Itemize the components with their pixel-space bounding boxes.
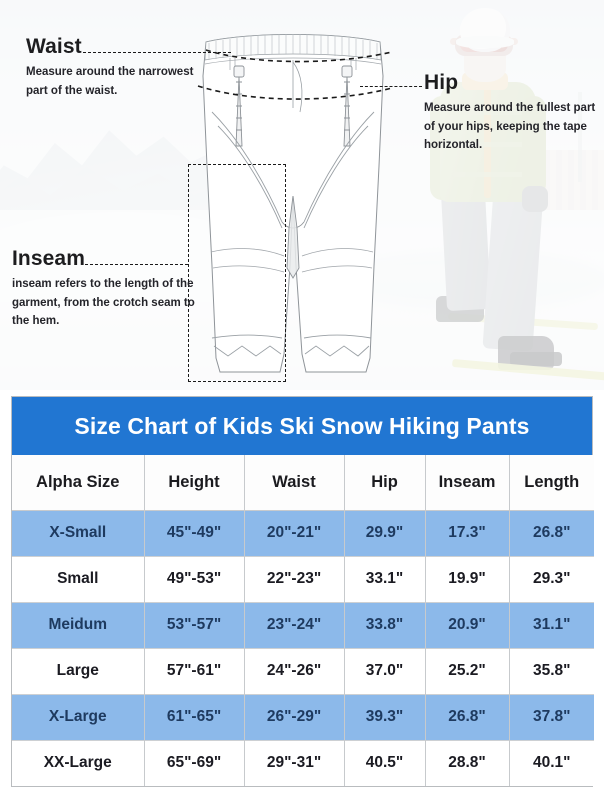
col-header-waist: Waist [244,455,344,510]
size-chart-table: Alpha Size Height Waist Hip Inseam Lengt… [12,455,594,786]
table-row: X-Small 45"-49" 20"-21" 29.9" 17.3" 26.8… [12,510,594,556]
callout-hip-title: Hip [424,72,600,94]
cell-height: 53"-57" [144,602,244,648]
size-chart-table-wrapper: Size Chart of Kids Ski Snow Hiking Pants… [11,396,593,787]
cell-waist: 24"-26" [244,648,344,694]
cell-length: 37.8" [509,694,594,740]
cell-length: 35.8" [509,648,594,694]
cell-height: 57"-61" [144,648,244,694]
cell-waist: 29"-31" [244,740,344,786]
cell-inseam: 20.9" [425,602,509,648]
cell-length: 29.3" [509,556,594,602]
cell-height: 49"-53" [144,556,244,602]
cell-inseam: 17.3" [425,510,509,556]
cell-waist: 20"-21" [244,510,344,556]
cell-height: 65"-69" [144,740,244,786]
cell-hip: 33.1" [344,556,425,602]
col-header-height: Height [144,455,244,510]
cell-hip: 40.5" [344,740,425,786]
cell-hip: 29.9" [344,510,425,556]
table-row: Large 57"-61" 24"-26" 37.0" 25.2" 35.8" [12,648,594,694]
cell-height: 45"-49" [144,510,244,556]
callout-inseam-title: Inseam [12,248,212,270]
cell-size: XX-Large [12,740,144,786]
cell-hip: 39.3" [344,694,425,740]
col-header-length: Length [509,455,594,510]
col-header-alpha-size: Alpha Size [12,455,144,510]
skier-pant-right [482,188,543,351]
cell-inseam: 25.2" [425,648,509,694]
cell-hip: 37.0" [344,648,425,694]
child-skier-figure [392,0,604,390]
cell-inseam: 28.8" [425,740,509,786]
callout-waist-title: Waist [26,36,216,58]
table-head: Alpha Size Height Waist Hip Inseam Lengt… [12,455,594,510]
cell-inseam: 26.8" [425,694,509,740]
jacket-fold-3 [452,172,524,177]
cell-inseam: 19.9" [425,556,509,602]
cell-size: Large [12,648,144,694]
callout-inseam-body: inseam refers to the length of the garme… [12,275,212,331]
hip-leader-line [360,86,422,87]
size-chart-title: Size Chart of Kids Ski Snow Hiking Pants [12,397,592,455]
callout-waist-body: Measure around the narrowest part of the… [26,63,216,100]
cell-size: Small [12,556,144,602]
table-row: X-Large 61"-65" 26"-29" 39.3" 26.8" 37.8… [12,694,594,740]
cell-size: Meidum [12,602,144,648]
skier-glove [522,186,548,212]
hero-photo-panel: Waist Measure around the narrowest part … [0,0,604,390]
callout-waist: Waist Measure around the narrowest part … [26,36,216,100]
cell-height: 61"-65" [144,694,244,740]
callout-inseam: Inseam inseam refers to the length of th… [12,248,212,331]
table-row: XX-Large 65"-69" 29"-31" 40.5" 28.8" 40.… [12,740,594,786]
cell-waist: 22"-23" [244,556,344,602]
cell-length: 26.8" [509,510,594,556]
table-row: Meidum 53"-57" 23"-24" 33.8" 20.9" 31.1" [12,602,594,648]
table-header-row: Alpha Size Height Waist Hip Inseam Lengt… [12,455,594,510]
cell-size: X-Small [12,510,144,556]
col-header-inseam: Inseam [425,455,509,510]
cell-hip: 33.8" [344,602,425,648]
skier-pant-left [441,189,491,311]
cell-waist: 26"-29" [244,694,344,740]
helmet-brim [456,36,514,48]
cell-size: X-Large [12,694,144,740]
callout-hip: Hip Measure around the fullest part of y… [424,72,600,155]
cell-length: 31.1" [509,602,594,648]
col-header-hip: Hip [344,455,425,510]
cell-waist: 23"-24" [244,602,344,648]
table-row: Small 49"-53" 22"-23" 33.1" 19.9" 29.3" [12,556,594,602]
size-chart-page: Waist Measure around the narrowest part … [0,0,604,800]
table-body: X-Small 45"-49" 20"-21" 29.9" 17.3" 26.8… [12,510,594,786]
cell-length: 40.1" [509,740,594,786]
callout-hip-body: Measure around the fullest part of your … [424,99,600,155]
